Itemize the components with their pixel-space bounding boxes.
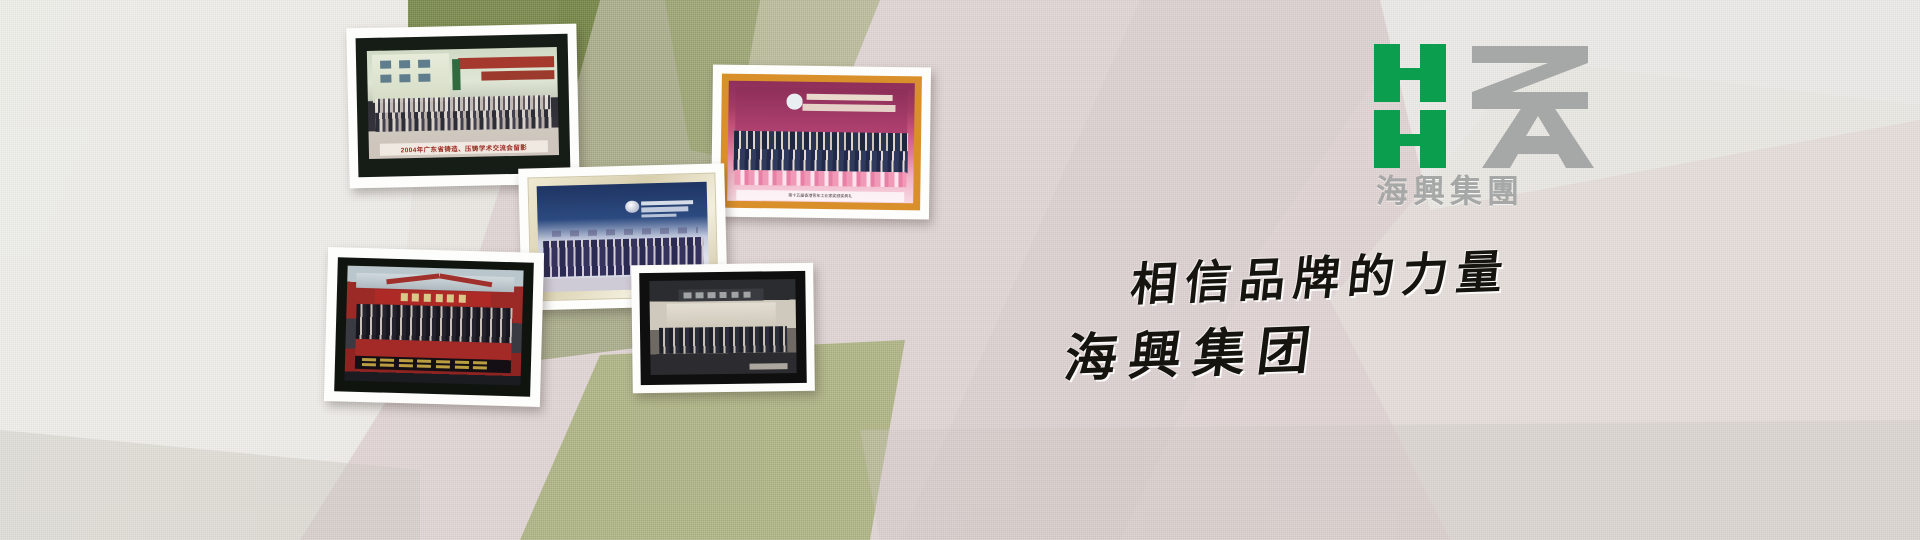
window-shape <box>399 60 411 68</box>
photo-card-red-stage[interactable] <box>324 247 544 407</box>
photo-caption-chip <box>750 363 788 370</box>
photo-scene: 2004年广东省铸造、压铸学术交流会留影 <box>366 47 559 159</box>
slogan-line-1: 相信品牌的力量 <box>1128 235 1515 314</box>
name-chip <box>380 359 394 362</box>
name-chip <box>455 366 469 369</box>
window-shape <box>380 61 392 69</box>
za-monogram-icon <box>1466 46 1606 168</box>
background-base <box>0 0 1920 540</box>
name-chip <box>455 361 469 364</box>
name-chip <box>417 360 431 363</box>
crowd-row <box>356 304 512 343</box>
photo-inner <box>334 257 534 396</box>
brand-banner: 2004年广东省铸造、压铸学术交流会留影 第十五届香港青年工业家奖颁奖典礼 <box>0 0 1920 540</box>
name-chip <box>436 360 450 363</box>
flower-row <box>735 170 906 188</box>
sign-char-shape <box>696 292 704 298</box>
name-chip <box>436 365 450 368</box>
photo-scene: 第十五届香港青年工业家奖颁奖典礼 <box>727 81 915 204</box>
company-logo[interactable]: 海興集團 <box>1374 44 1604 214</box>
name-chip <box>399 359 413 362</box>
award-logo-shape <box>625 201 639 213</box>
brand-slogan: 相信品牌的力量 海興集团 <box>1060 236 1530 436</box>
photo-card-award-ceremony[interactable]: 第十五届香港青年工业家奖颁奖典礼 <box>711 64 931 219</box>
flag-shape <box>452 59 460 89</box>
photo-caption: 2004年广东省铸造、压铸学术交流会留影 <box>380 140 548 155</box>
banner-char-shape <box>459 294 466 302</box>
photo-card-2004-guangdong[interactable]: 2004年广东省铸造、压铸学术交流会留影 <box>346 24 579 189</box>
banner-char-shape <box>435 294 442 302</box>
banner-title-shape <box>807 94 893 101</box>
banner-char-shape <box>447 294 454 302</box>
name-label-row <box>551 227 697 237</box>
logo-company-name: 海興集團 <box>1376 166 1524 212</box>
crowd-row <box>659 326 788 354</box>
photo-caption: 第十五届香港青年工业家奖颁奖典礼 <box>736 190 904 202</box>
award-title-cn-shape <box>641 200 694 206</box>
sign-char-shape <box>684 292 692 298</box>
hh-monogram-icon <box>1374 44 1470 168</box>
banner-subtitle-shape <box>803 103 896 111</box>
name-chip <box>417 365 431 368</box>
red-roof-shape <box>458 56 554 69</box>
window-shape <box>418 74 430 82</box>
award-title-en-line2-shape <box>641 213 677 218</box>
event-logo-shape <box>786 94 803 110</box>
name-chip <box>380 364 394 367</box>
name-chip <box>361 363 375 366</box>
banner-char-shape <box>424 293 431 301</box>
glass-facade <box>667 303 775 329</box>
window-shape <box>418 60 430 68</box>
banner-char-shape <box>400 293 407 301</box>
photo-scene <box>344 266 524 386</box>
banner-char-shape <box>412 293 419 301</box>
name-chip <box>362 358 376 361</box>
window-shape <box>399 75 411 83</box>
photo-scene <box>649 279 796 375</box>
photo-gold-frame: 第十五届香港青年工业家奖颁奖典礼 <box>720 74 922 211</box>
sign-char-shape <box>743 291 751 297</box>
sign-char-shape <box>707 292 715 298</box>
slogan-line-2: 海興集团 <box>1061 308 1328 392</box>
name-chip <box>399 364 413 367</box>
photo-inner <box>639 271 807 385</box>
red-roof-shape <box>481 70 554 80</box>
wall-sign <box>679 289 764 301</box>
logo-letter-marks <box>1374 44 1604 168</box>
name-chip <box>473 361 487 364</box>
window-shape <box>380 75 392 83</box>
award-title-en-line1-shape <box>641 207 689 212</box>
sign-char-shape <box>731 291 739 297</box>
photo-inner: 2004年广东省铸造、压铸学术交流会留影 <box>356 34 571 177</box>
name-chip <box>473 366 487 369</box>
sign-char-shape <box>719 292 727 298</box>
crowd-row <box>375 110 551 132</box>
photo-card-entrance[interactable] <box>631 263 815 394</box>
